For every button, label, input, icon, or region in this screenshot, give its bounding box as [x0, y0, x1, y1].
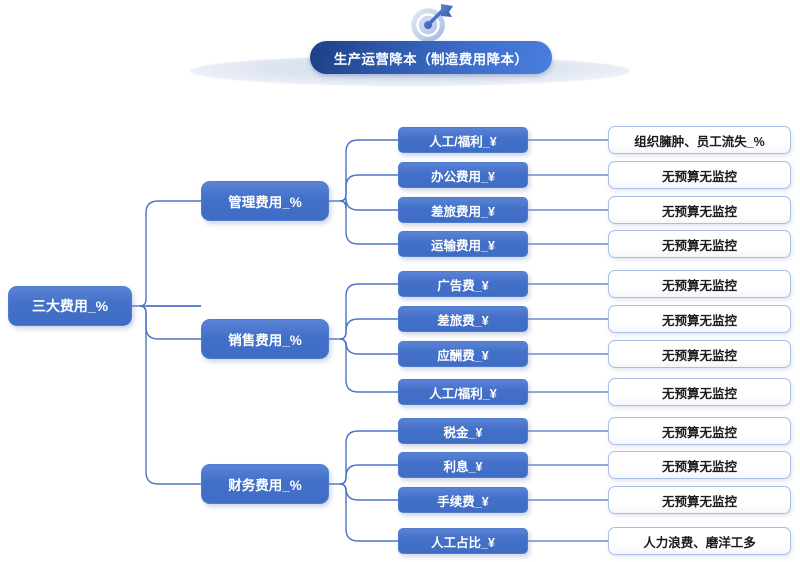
root-node[interactable]: 三大费用_% — [8, 286, 132, 326]
leaf-node-guanli-1[interactable]: 人工/福利_¥ — [398, 127, 528, 153]
leaf-node-caiwu-3[interactable]: 手续费_¥ — [398, 487, 528, 513]
detail-box-xiaoshou-1[interactable]: 无预算无监控 — [608, 270, 791, 298]
diagram-header: 生产运营降本（制造费用降本） — [0, 0, 800, 100]
detail-box-xiaoshou-2[interactable]: 无预算无监控 — [608, 305, 791, 333]
leaf-node-xiaoshou-4[interactable]: 人工/福利_¥ — [398, 379, 528, 405]
header-title-pill: 生产运营降本（制造费用降本） — [310, 41, 552, 74]
leaf-node-xiaoshou-1[interactable]: 广告费_¥ — [398, 271, 528, 297]
leaf-node-guanli-4[interactable]: 运输费用_¥ — [398, 231, 528, 257]
branch-node-guanli[interactable]: 管理费用_% — [201, 181, 329, 221]
leaf-node-guanli-3[interactable]: 差旅费用_¥ — [398, 197, 528, 223]
detail-box-guanli-3[interactable]: 无预算无监控 — [608, 196, 791, 224]
detail-box-guanli-2[interactable]: 无预算无监控 — [608, 161, 791, 189]
leaf-node-xiaoshou-3[interactable]: 应酬费_¥ — [398, 341, 528, 367]
detail-box-caiwu-1[interactable]: 无预算无监控 — [608, 417, 791, 445]
detail-box-xiaoshou-3[interactable]: 无预算无监控 — [608, 340, 791, 368]
detail-box-guanli-1[interactable]: 组织臃肿、员工流失_% — [608, 126, 791, 154]
branch-node-xiaoshou[interactable]: 销售费用_% — [201, 319, 329, 359]
branch-node-caiwu[interactable]: 财务费用_% — [201, 464, 329, 504]
detail-box-guanli-4[interactable]: 无预算无监控 — [608, 230, 791, 258]
leaf-node-guanli-2[interactable]: 办公费用_¥ — [398, 162, 528, 188]
detail-box-caiwu-2[interactable]: 无预算无监控 — [608, 451, 791, 479]
leaf-node-caiwu-4[interactable]: 人工占比_¥ — [398, 528, 528, 554]
leaf-node-xiaoshou-2[interactable]: 差旅费_¥ — [398, 306, 528, 332]
leaf-node-caiwu-2[interactable]: 利息_¥ — [398, 452, 528, 478]
detail-box-caiwu-4[interactable]: 人力浪费、磨洋工多 — [608, 527, 791, 555]
page-title: 生产运营降本（制造费用降本） — [334, 48, 529, 68]
detail-box-caiwu-3[interactable]: 无预算无监控 — [608, 486, 791, 514]
target-dart-icon — [403, 0, 457, 46]
diagram-canvas: 生产运营降本（制造费用降本） — [0, 0, 800, 562]
detail-box-xiaoshou-4[interactable]: 无预算无监控 — [608, 378, 791, 406]
leaf-node-caiwu-1[interactable]: 税金_¥ — [398, 418, 528, 444]
